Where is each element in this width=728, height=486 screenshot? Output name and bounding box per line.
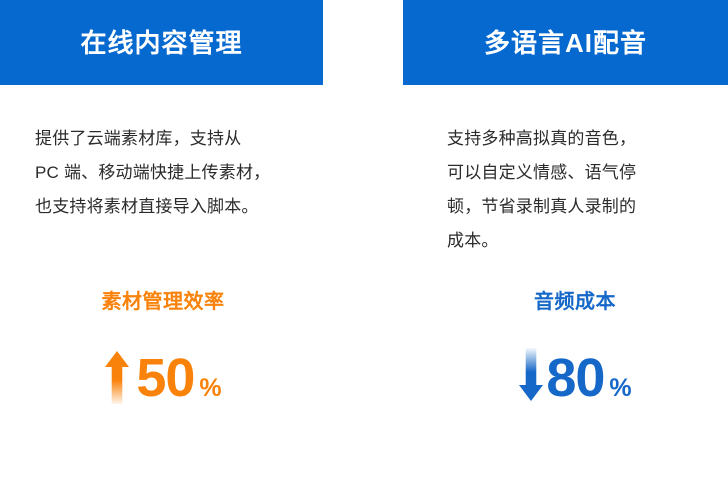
column-2-title: 多语言AI配音	[484, 30, 647, 56]
column-1-header-banner: 在线内容管理	[0, 0, 323, 85]
column-2-header-banner: 多语言AI配音	[403, 0, 728, 85]
column-1-description: 提供了云端素材库，支持从 PC 端、移动端快捷上传素材， 也支持将素材直接导入脚…	[35, 122, 335, 224]
column-2-metric-value-row: 80 %	[430, 346, 720, 404]
column-1-metric-value: 50	[136, 354, 194, 404]
column-1-metric-label: 素材管理效率	[18, 292, 308, 312]
column-2-metric: 音频成本 80 %	[430, 292, 720, 404]
column-2-description: 支持多种高拟真的音色， 可以自定义情感、语气停 顿，节省录制真人录制的 成本。	[447, 122, 727, 258]
arrow-up-icon	[104, 350, 130, 404]
column-1-title: 在线内容管理	[80, 30, 242, 56]
column-1-metric-value-row: 50 %	[18, 346, 308, 404]
feature-column-1: 在线内容管理 提供了云端素材库，支持从 PC 端、移动端快捷上传素材， 也支持将…	[0, 0, 364, 486]
column-2-metric-label: 音频成本	[430, 292, 720, 312]
column-2-metric-value: 80	[546, 354, 604, 404]
feature-comparison-board: 在线内容管理 提供了云端素材库，支持从 PC 端、移动端快捷上传素材， 也支持将…	[0, 0, 728, 486]
arrow-down-icon	[518, 348, 544, 402]
column-1-metric: 素材管理效率 50 %	[18, 292, 308, 404]
column-1-metric-unit: %	[199, 376, 221, 401]
column-2-metric-unit: %	[609, 376, 631, 401]
feature-column-2: 多语言AI配音 支持多种高拟真的音色， 可以自定义情感、语气停 顿，节省录制真人…	[364, 0, 728, 486]
